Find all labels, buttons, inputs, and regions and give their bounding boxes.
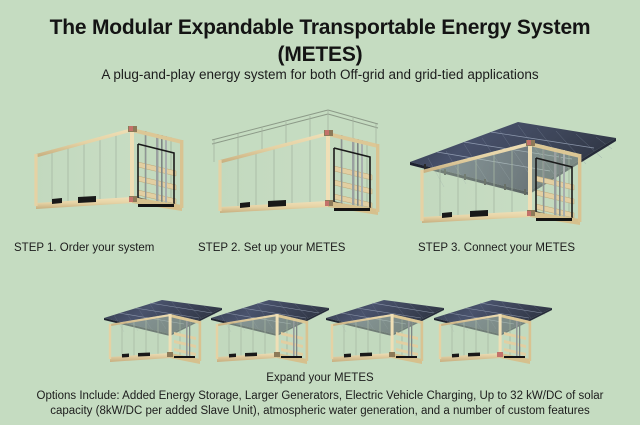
options-line-2: capacity (8kW/DC per added Slave Unit), …: [30, 404, 610, 419]
page-title: The Modular Expandable Transportable Ene…: [0, 14, 640, 68]
step-3-caption: STEP 3. Connect your METES: [418, 242, 575, 254]
step-3: STEP 3. Connect your METES: [400, 104, 628, 232]
mini-unit-illustration: [428, 288, 558, 370]
page-title-line-2: (METES): [0, 41, 640, 68]
container-with-mounting-rails-illustration: [198, 104, 408, 232]
expanded-unit-4: [428, 288, 558, 375]
page-title-line-1: The Modular Expandable Transportable Ene…: [0, 14, 640, 41]
step-2: STEP 2. Set up your METES: [198, 104, 408, 232]
expand-label: Expand your METES: [0, 372, 640, 384]
options-text: Options Include: Added Energy Storage, L…: [30, 389, 610, 419]
expanded-units-row: [0, 288, 640, 370]
container-with-solar-array-illustration: [400, 104, 628, 232]
expanded-unit-2: [205, 288, 335, 375]
step-2-caption: STEP 2. Set up your METES: [198, 242, 345, 254]
options-line-1: Options Include: Added Energy Storage, L…: [30, 389, 610, 404]
mini-unit-illustration: [205, 288, 335, 370]
page-subtitle: A plug-and-play energy system for both O…: [0, 67, 640, 82]
steps-row: STEP 1. Order your system: [0, 104, 640, 264]
step-1: STEP 1. Order your system: [14, 104, 214, 232]
poster-canvas: The Modular Expandable Transportable Ene…: [0, 0, 640, 425]
container-closed-illustration: [14, 104, 214, 232]
step-1-caption: STEP 1. Order your system: [14, 242, 154, 254]
